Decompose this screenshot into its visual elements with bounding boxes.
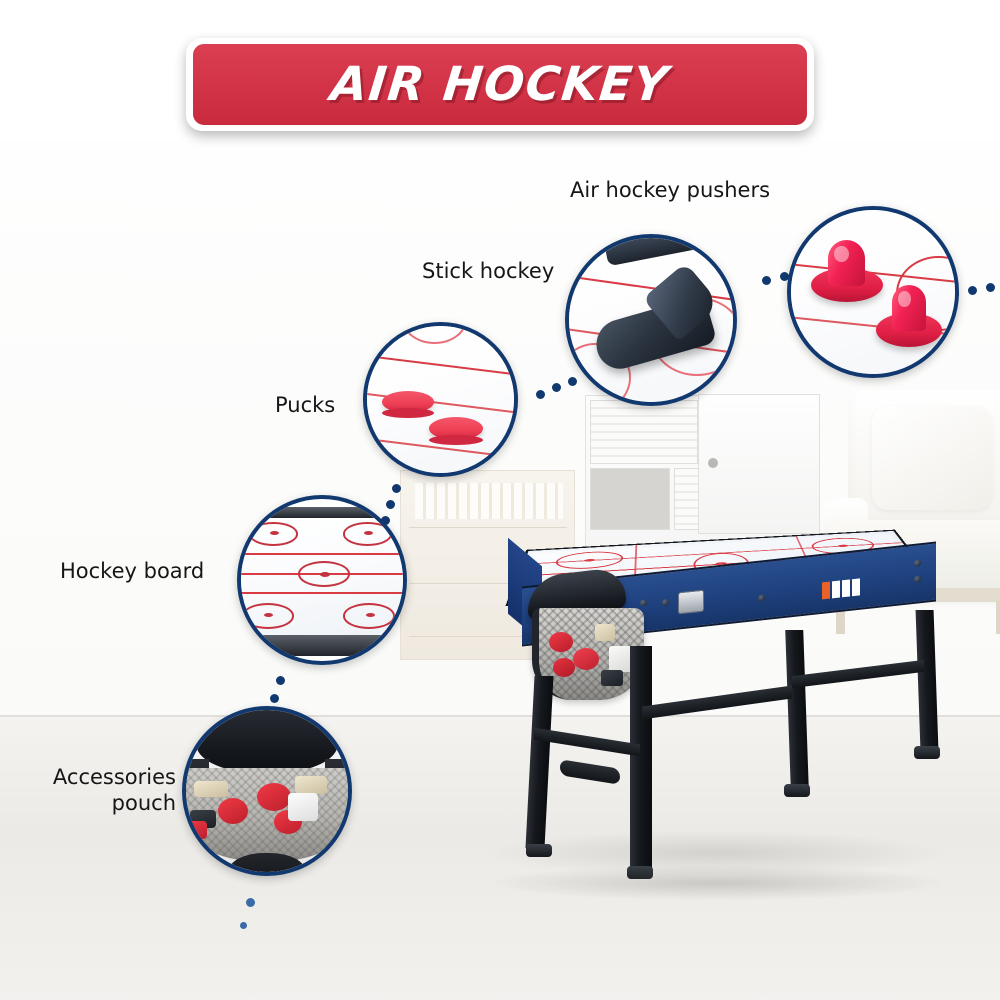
infographic-canvas: AIR HOCKEY [0, 0, 1000, 1000]
air-hockey-puck [382, 391, 434, 413]
hockey-board-surface [237, 512, 407, 642]
table-brace-rear [792, 660, 924, 688]
table-foot-rear-left [784, 784, 810, 797]
callout-circle-accessories-pouch [182, 706, 352, 876]
connector-dot [392, 484, 401, 493]
connector-dot [968, 286, 977, 295]
table-leg-rear-right [916, 610, 939, 750]
table-brace-long [642, 685, 792, 719]
callout-label-pucks: Pucks [275, 392, 335, 418]
table-leg-rear-left [785, 630, 809, 788]
shelf-knob-icon [708, 458, 718, 468]
connector-dot [762, 276, 771, 285]
connector-dot [986, 283, 995, 292]
callout-label-stick-hockey: Stick hockey [422, 258, 554, 284]
callout-label-hockey-board: Hockey board [60, 558, 204, 584]
connector-dot [246, 898, 255, 907]
callout-label-air-hockey-pushers: Air hockey pushers [570, 177, 770, 203]
air-hockey-puck [429, 417, 483, 440]
connector-dot [552, 383, 561, 392]
pouch-lid [196, 706, 339, 772]
table-leg-front-left [525, 676, 553, 848]
air-hockey-pusher [811, 240, 883, 306]
callout-circle-hockey-board [237, 495, 407, 665]
air-hockey-pusher [876, 285, 942, 347]
page-title: AIR HOCKEY [328, 57, 672, 112]
callout-circle-pucks [363, 322, 518, 477]
table-foot-front-left [526, 844, 552, 857]
callout-label-line1: Accessories [53, 765, 176, 789]
table-foot-rear-right [914, 746, 940, 759]
connector-dot [276, 676, 285, 685]
connector-dot [240, 922, 247, 929]
table-brace-lower [534, 728, 640, 757]
hockey-board-goal-top [251, 507, 394, 518]
table-brace-mid-notch [560, 759, 620, 785]
callout-label-line2: pouch [112, 791, 176, 815]
callout-circle-stick-hockey [565, 234, 737, 406]
product-shadow [492, 866, 942, 900]
header-banner: AIR HOCKEY [186, 38, 814, 131]
hockey-board-goal-bottom [251, 635, 394, 656]
latch-icon [678, 590, 704, 615]
pouch-mesh [182, 768, 352, 862]
callout-label-accessories-pouch: Accessories pouch [26, 764, 176, 817]
table-leg-center [630, 646, 652, 870]
banner-plate: AIR HOCKEY [190, 41, 810, 128]
product-photo-air-hockey-table [470, 468, 980, 898]
connector-dot [536, 390, 545, 399]
callout-circle-air-hockey-pushers [787, 206, 959, 378]
connector-dot [270, 694, 279, 703]
